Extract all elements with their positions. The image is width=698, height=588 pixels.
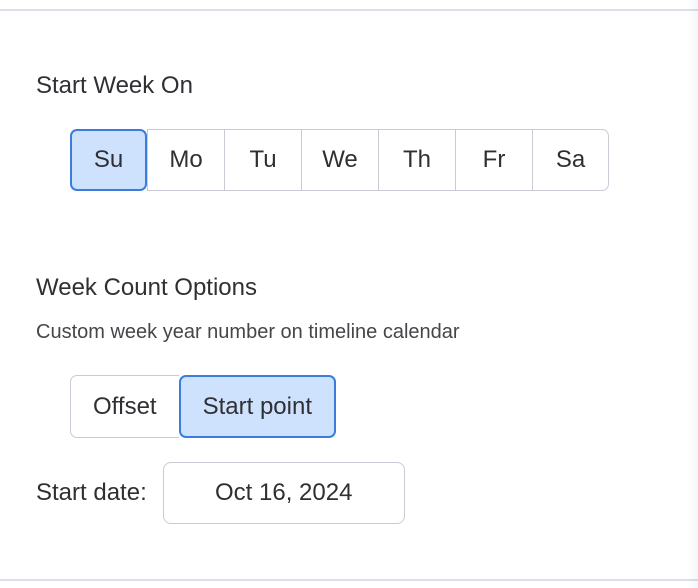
week-settings-panel: Start Week On Su Mo Tu We Th Fr Sa Week … — [0, 0, 698, 588]
day-button-mo[interactable]: Mo — [147, 129, 224, 191]
week-count-mode-start-point[interactable]: Start point — [179, 375, 336, 438]
day-button-fr[interactable]: Fr — [455, 129, 532, 191]
day-button-sa[interactable]: Sa — [532, 129, 609, 191]
bottom-divider — [0, 579, 698, 581]
start-week-on-day-selector: Su Mo Tu We Th Fr Sa — [70, 129, 609, 191]
start-date-label: Start date: — [36, 479, 147, 507]
start-date-row: Start date: — [36, 462, 405, 524]
week-count-mode-selector: Offset Start point — [70, 375, 336, 438]
start-date-input[interactable] — [163, 462, 405, 524]
top-divider — [0, 9, 698, 11]
start-week-on-title: Start Week On — [36, 72, 193, 100]
day-button-th[interactable]: Th — [378, 129, 455, 191]
panel-right-edge — [686, 0, 698, 588]
day-button-tu[interactable]: Tu — [224, 129, 301, 191]
week-count-mode-offset[interactable]: Offset — [70, 375, 179, 438]
week-count-options-description: Custom week year number on timeline cale… — [36, 320, 460, 344]
day-button-we[interactable]: We — [301, 129, 378, 191]
day-button-su[interactable]: Su — [70, 129, 147, 191]
week-count-options-title: Week Count Options — [36, 274, 257, 302]
